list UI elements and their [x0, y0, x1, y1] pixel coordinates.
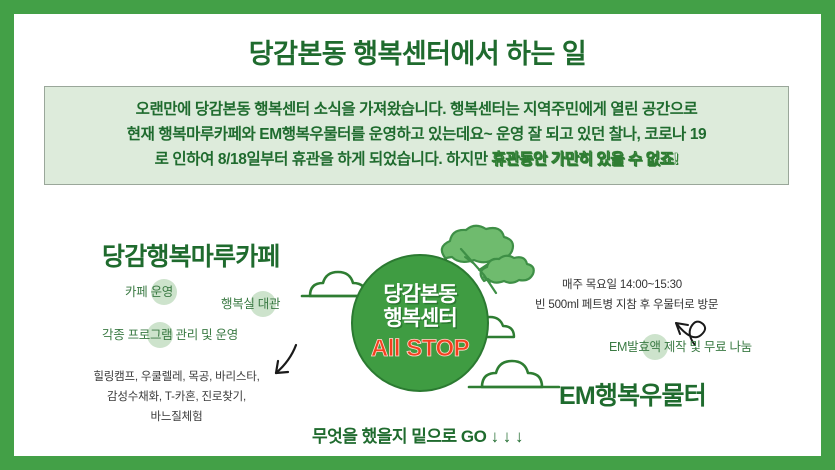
cafe-heading: 당감행복마루카페	[102, 237, 280, 273]
well-note-instruction: 빈 500ml 페트병 지참 후 우물터로 방문	[535, 296, 718, 312]
well-note-schedule: 매주 목요일 14:00~15:30	[562, 276, 682, 292]
intro-line-3: 로 인하여 8/18일부터 휴관을 하게 되었습니다. 하지만 휴관동안 가만히…	[57, 147, 776, 172]
intro-line-2: 현재 행복마루카페와 EM행복우물터를 운영하고 있는데요~ 운영 잘 되고 있…	[57, 122, 776, 147]
program-list: 힐링캠프, 우쿨렐레, 목공, 바리스타, 감성수채화, T-카혼, 진로찾기,…	[69, 367, 284, 427]
status-badge: 당감본동 행복센터 All STOP	[351, 254, 489, 392]
program-list-line-2: 감성수채화, T-카혼, 진로찾기,	[69, 387, 284, 407]
intro-textbox: 오랜만에 당감본동 행복센터 소식을 가져왔습니다. 행복센터는 지역주민에게 …	[44, 86, 789, 185]
badge-status-text: All STOP	[371, 335, 469, 363]
cafe-tag-hall-rental: 행복실 대관	[221, 293, 280, 312]
illustration-scene: 당감행복마루카페 카페 운영 행복실 대관 각종 프로그램 관리 및 운영 힐링…	[14, 219, 821, 456]
program-list-line-1: 힐링캠프, 우쿨렐레, 목공, 바리스타,	[69, 367, 284, 387]
poster-page: 당감본동 행복센터에서 하는 일 오랜만에 당감본동 행복센터 소식을 가져왔습…	[14, 14, 821, 456]
well-tag-em: EM발효액 제작 및 무료 나눔	[609, 336, 752, 355]
footer-cta: 무엇을 했을지 밑으로 GO ↓ ↓ ↓	[14, 422, 821, 447]
intro-line-3-text: 로 인하여 8/18일부터 휴관을 하게 되었습니다. 하지만	[155, 151, 492, 168]
page-title: 당감본동 행복센터에서 하는 일	[14, 32, 821, 71]
cafe-tag-operation: 카페 운영	[125, 281, 173, 300]
intro-line-1: 오랜만에 당감본동 행복센터 소식을 가져왔습니다. 행복센터는 지역주민에게 …	[57, 97, 776, 122]
cafe-tag-programs: 각종 프로그램 관리 및 운영	[102, 324, 238, 343]
badge-line-1: 당감본동	[383, 283, 456, 307]
badge-line-2: 행복센터	[383, 307, 456, 331]
intro-highlight-text: 휴관동안 가만히 있을 수 없죠!	[492, 151, 679, 168]
cloud-right-icon	[482, 361, 542, 387]
well-heading: EM행복우물터	[559, 376, 706, 412]
